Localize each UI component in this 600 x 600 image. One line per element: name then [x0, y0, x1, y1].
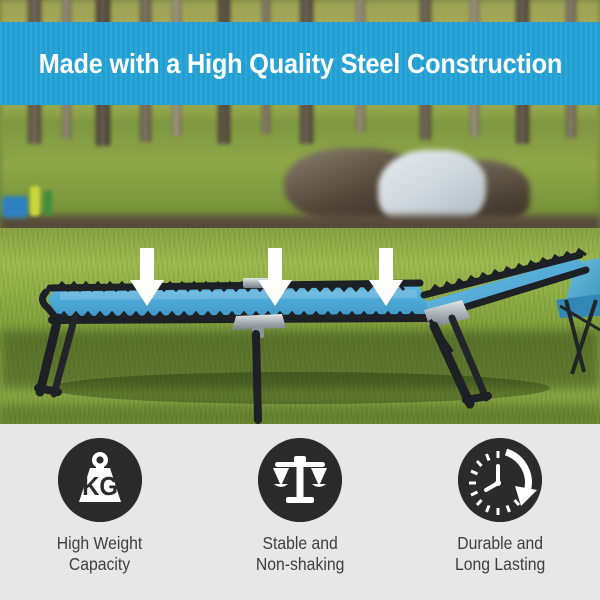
feature-item-durability: Durable and Long Lasting: [405, 438, 595, 576]
arrow-shaft: [140, 248, 154, 282]
feature-item-weight: KG High Weight Capacity: [5, 438, 195, 576]
feature-label-weight: High Weight Capacity: [57, 533, 143, 576]
clock-arrow-icon: [458, 438, 542, 522]
feature-label-stability: Stable and Non-shaking: [256, 533, 344, 576]
arrow-head: [130, 280, 164, 306]
feature-label-durability: Durable and Long Lasting: [455, 533, 545, 576]
feature-item-stability: Stable and Non-shaking: [205, 438, 395, 576]
weight-kg-icon: KG: [58, 438, 142, 522]
arrow-head: [258, 280, 292, 306]
balance-scale-icon: [258, 438, 342, 522]
down-arrow: [258, 248, 292, 306]
headline-banner: Made with a High Quality Steel Construct…: [0, 22, 600, 105]
product-feature-image: Made with a High Quality Steel Construct…: [0, 0, 600, 600]
arrow-shaft: [268, 248, 282, 282]
arrow-head: [369, 280, 403, 306]
svg-text:KG: KG: [82, 472, 118, 501]
banner-title: Made with a High Quality Steel Construct…: [38, 48, 561, 80]
arrow-shaft: [379, 248, 393, 282]
feature-panel: KG High Weight Capacity S: [0, 424, 600, 600]
center-support-leg: [232, 314, 286, 420]
down-arrow: [130, 248, 164, 306]
down-arrow: [369, 248, 403, 306]
